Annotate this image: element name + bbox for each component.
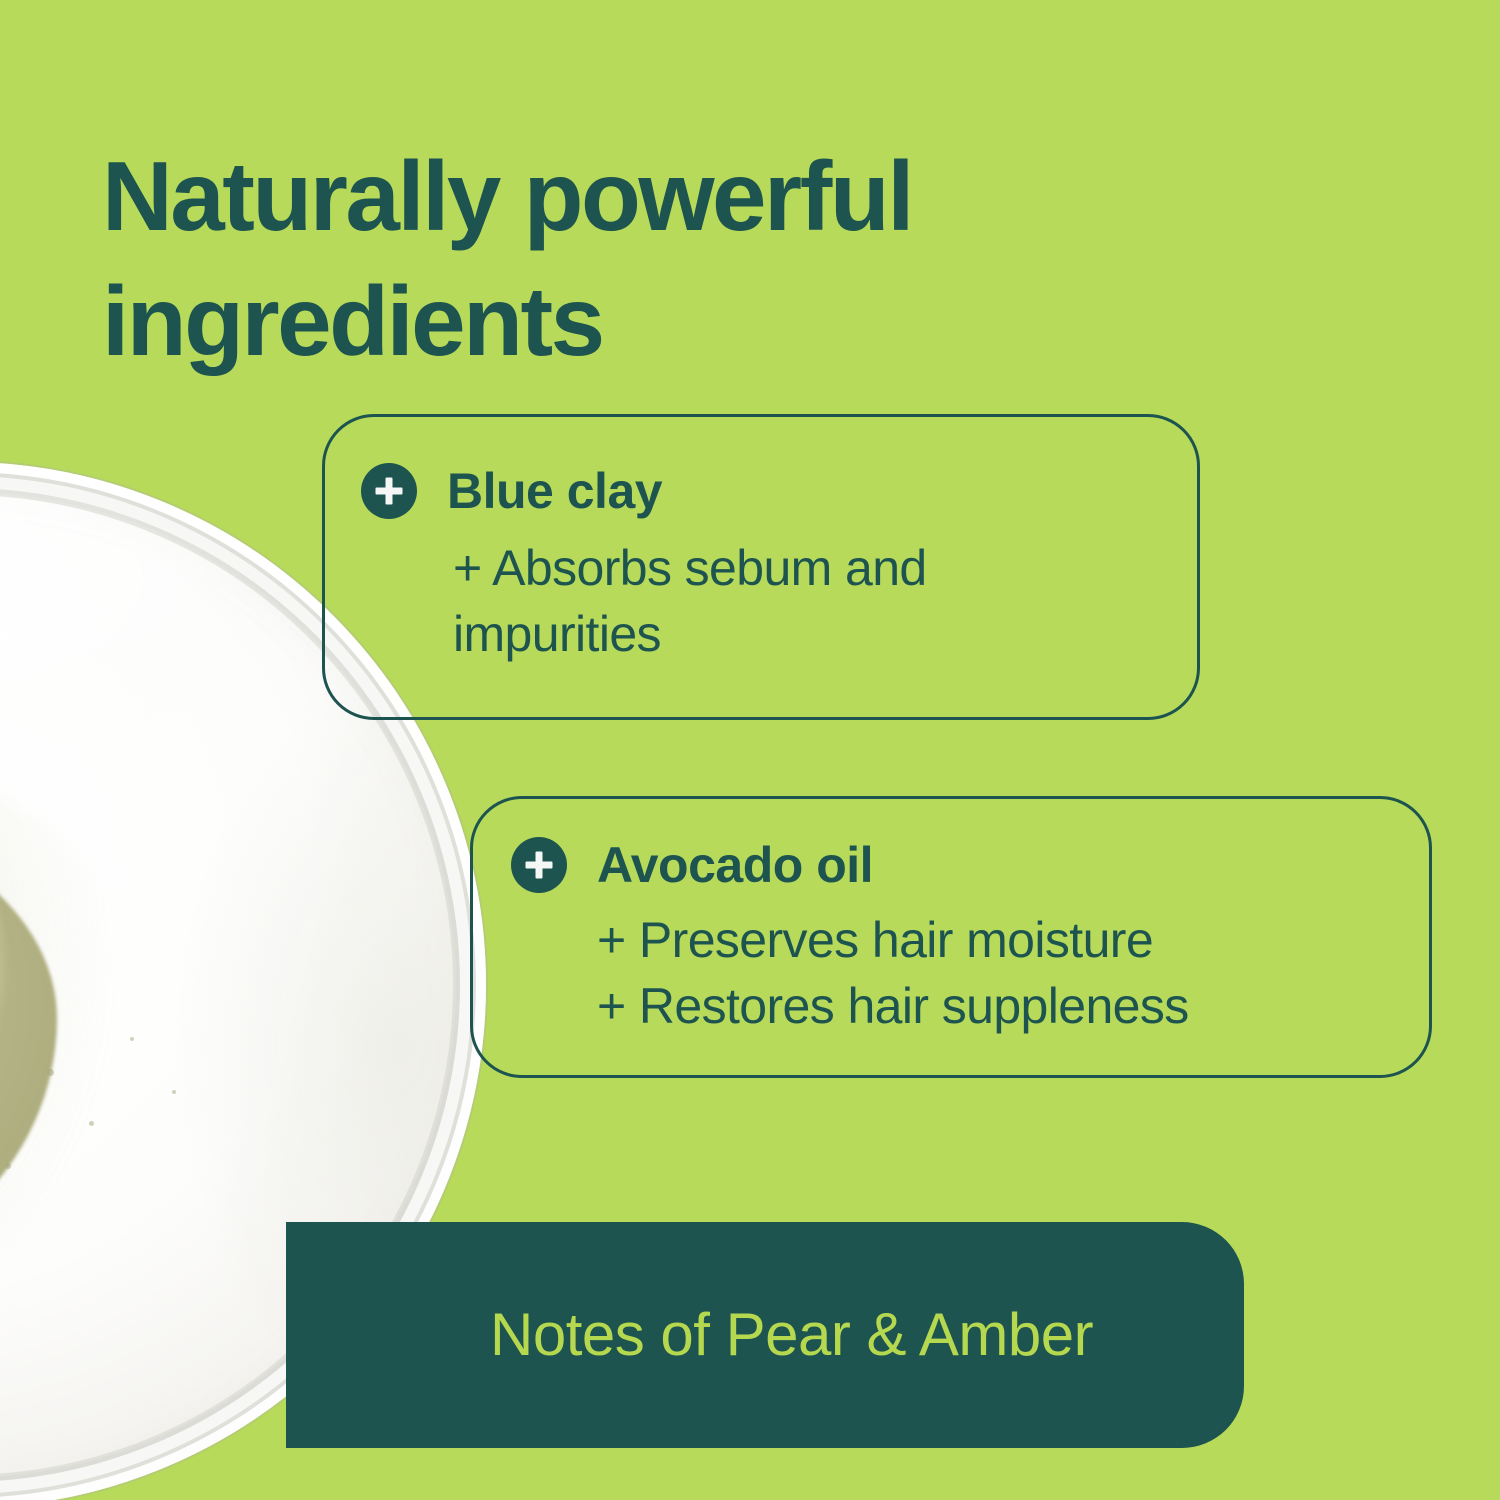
powder-speck (172, 1090, 176, 1094)
card-heading-row: Avocado oil (511, 837, 1467, 893)
ingredient-benefits: + Absorbs sebum and impurities (361, 535, 1153, 667)
ingredient-benefits: + Preserves hair moisture + Restores hai… (511, 907, 1437, 1039)
ingredients-infographic: Naturally powerful ingredients Blue clay… (0, 0, 1500, 1500)
ingredient-card-blue-clay: Blue clay + Absorbs sebum and impurities (322, 414, 1200, 720)
benefit-line: + Absorbs sebum and (453, 535, 1153, 601)
card-heading-row: Blue clay (361, 463, 1233, 519)
plus-icon (511, 837, 567, 893)
card-content: Avocado oil + Preserves hair moisture + … (473, 799, 1467, 1039)
clay-powder-mound (0, 807, 57, 1288)
fragrance-notes-text: Notes of Pear & Amber (490, 1305, 1093, 1365)
benefit-line: + Restores hair suppleness (597, 973, 1437, 1039)
powder-speck (47, 1069, 54, 1076)
benefit-line: impurities (453, 601, 1153, 667)
card-content: Blue clay + Absorbs sebum and impurities (325, 417, 1233, 667)
powder-speck (5, 1163, 11, 1169)
headline-line-1: Naturally powerful (102, 134, 1262, 259)
powder-speck (89, 1121, 94, 1126)
powder-speck (130, 1037, 134, 1041)
benefit-line: + Preserves hair moisture (597, 907, 1437, 973)
plus-icon (361, 463, 417, 519)
fragrance-notes-banner: Notes of Pear & Amber (286, 1222, 1244, 1448)
page-title: Naturally powerful ingredients (102, 134, 1262, 385)
clay-powder-dust (0, 744, 151, 1351)
ingredient-name: Avocado oil (597, 840, 873, 890)
headline-line-2: ingredients (102, 259, 1262, 384)
ingredient-card-avocado-oil: Avocado oil + Preserves hair moisture + … (470, 796, 1432, 1078)
clay-powder-highlight (0, 786, 5, 1142)
ingredient-name: Blue clay (447, 466, 662, 516)
